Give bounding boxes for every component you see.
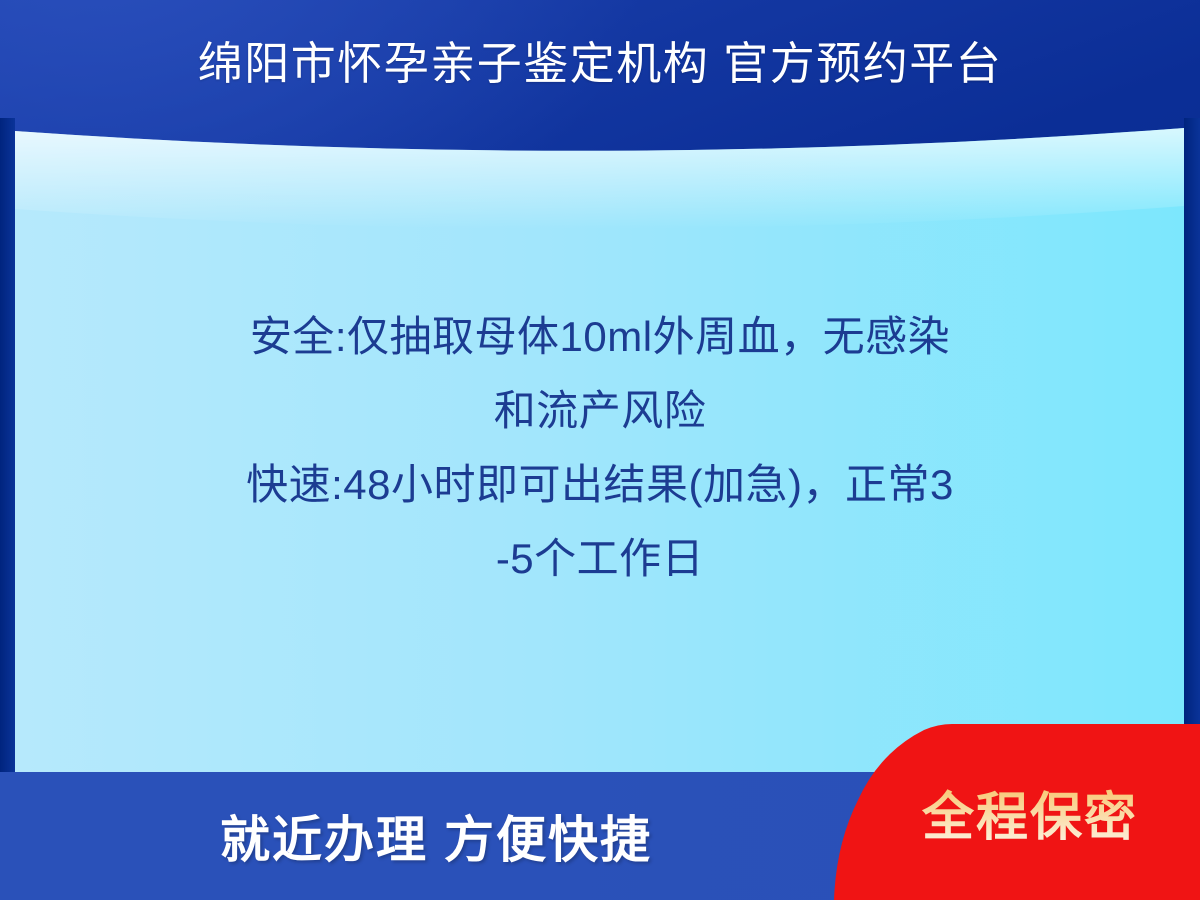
page-title: 绵阳市怀孕亲子鉴定机构 官方预约平台 (0, 0, 1200, 118)
header-band: 绵阳市怀孕亲子鉴定机构 官方预约平台 (0, 0, 1200, 128)
panel-right-edge (1184, 118, 1200, 774)
service-highlights: 安全:仅抽取母体10ml外周血，无感染 和流产风险 快速:48小时即可出结果(加… (120, 300, 1080, 596)
badge-label: 全程保密 (860, 724, 1200, 900)
highlight-line-2: 和流产风险 (120, 374, 1080, 448)
panel-left-edge (0, 118, 15, 774)
footer-slogan: 就近办理 方便快捷 (0, 772, 872, 900)
panel-top-sheen (15, 128, 1184, 229)
highlight-line-4: -5个工作日 (120, 522, 1080, 596)
highlight-line-1: 安全:仅抽取母体10ml外周血，无感染 (120, 300, 1080, 374)
poster-root: 绵阳市怀孕亲子鉴定机构 官方预约平台 安全:仅抽取母体10ml外周血，无感染 和… (0, 0, 1200, 900)
highlight-line-3: 快速:48小时即可出结果(加急)，正常3 (120, 448, 1080, 522)
